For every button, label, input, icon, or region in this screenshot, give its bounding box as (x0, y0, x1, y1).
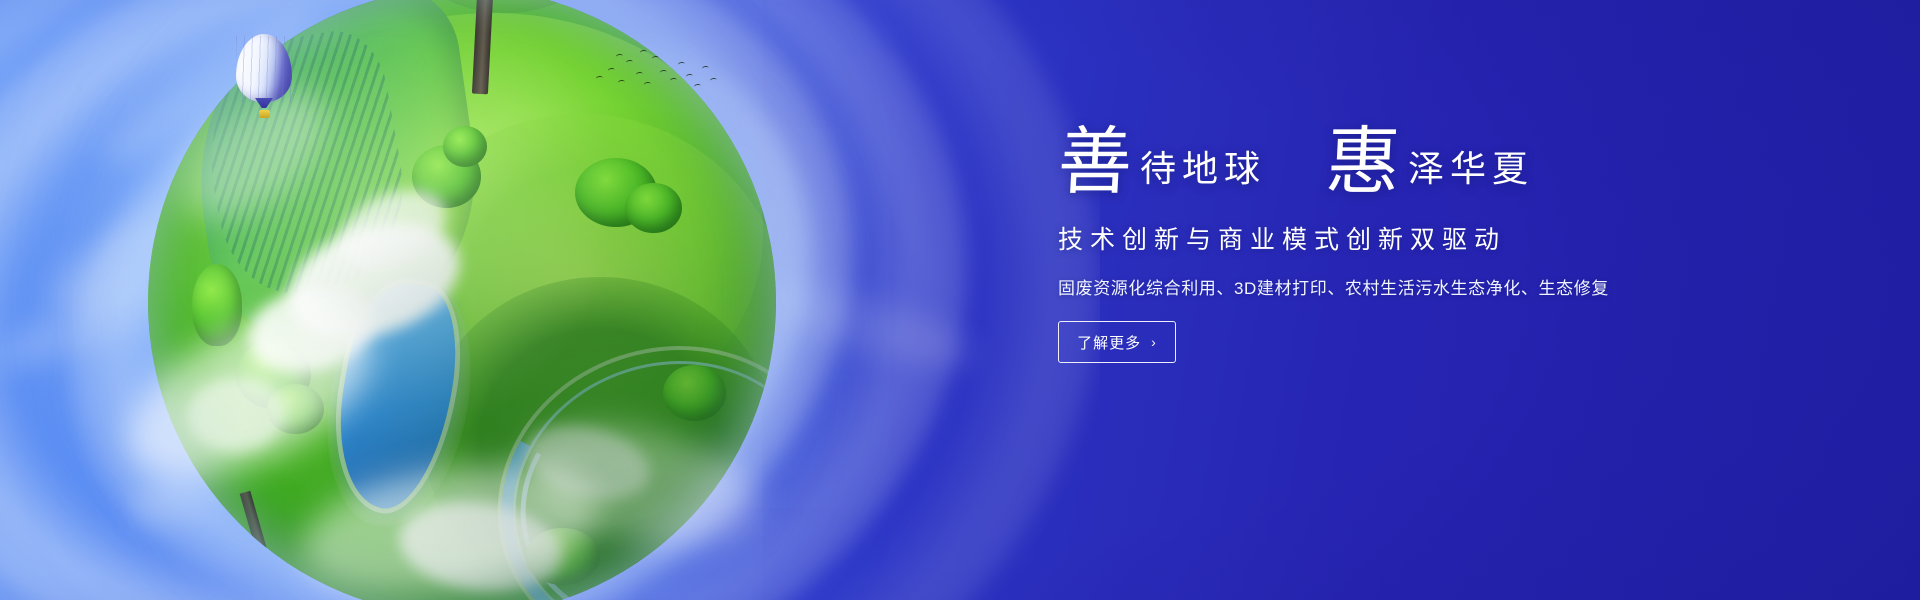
learn-more-label: 了解更多 (1077, 332, 1141, 353)
page-title: 善 待地球 惠 泽华夏 (1058, 126, 1818, 200)
headline-text-daidiqiu: 待地球 (1140, 151, 1266, 187)
learn-more-button[interactable]: 了解更多 › (1058, 321, 1176, 363)
headline-char-hui: 惠 (1324, 126, 1402, 200)
banner-subtitle: 技术创新与商业模式创新双驱动 (1058, 220, 1818, 256)
chevron-right-icon: › (1151, 335, 1157, 349)
headline-text-zehuaxia: 泽华夏 (1408, 151, 1534, 187)
headline-char-shan: 善 (1056, 126, 1134, 200)
banner-description: 固废资源化综合利用、3D建材打印、农村生活污水生态净化、生态修复 (1058, 274, 1818, 299)
hero-banner: 善 待地球 惠 泽华夏 技术创新与商业模式创新双驱动 固废资源化综合利用、3D建… (0, 0, 1920, 600)
banner-content: 善 待地球 惠 泽华夏 技术创新与商业模式创新双驱动 固废资源化综合利用、3D建… (1058, 126, 1818, 363)
